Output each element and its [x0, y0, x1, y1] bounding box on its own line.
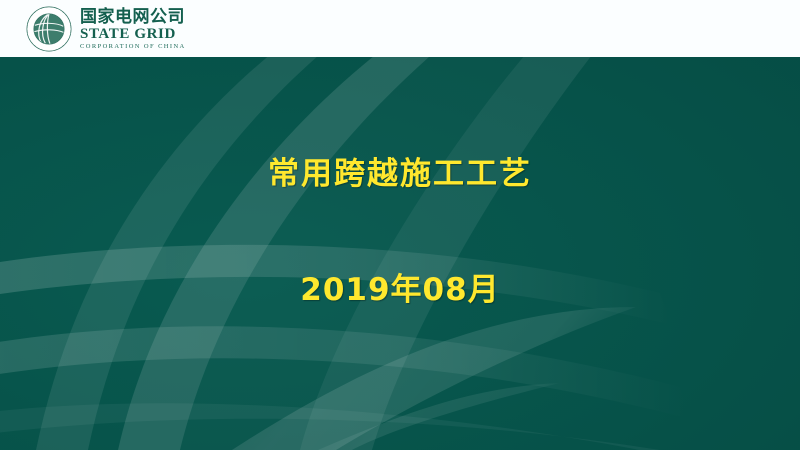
slide-body: [0, 57, 800, 450]
header-band: 国家电网公司 STATE GRID CORPORATION OF CHINA: [0, 0, 800, 57]
logo-wordmark: 国家电网公司 STATE GRID CORPORATION OF CHINA: [80, 7, 186, 51]
logo-company-sub: CORPORATION OF CHINA: [80, 44, 186, 51]
state-grid-logo: 国家电网公司 STATE GRID CORPORATION OF CHINA: [26, 6, 186, 52]
logo-company-en: STATE GRID: [80, 27, 186, 42]
state-grid-globe-emblem: [26, 6, 72, 52]
logo-company-cn: 国家电网公司: [80, 9, 186, 26]
presentation-title-slide: 常用跨越施工工艺 2019年08月: [0, 0, 800, 450]
globe-grid-background-art: [0, 57, 800, 450]
